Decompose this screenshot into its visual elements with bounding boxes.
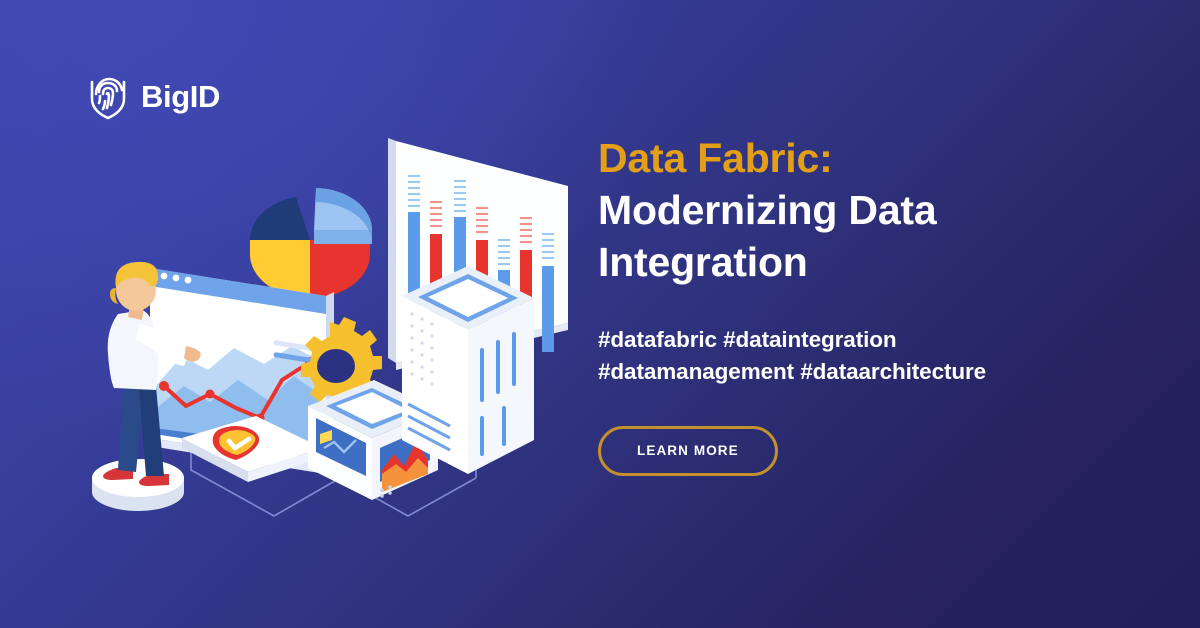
promo-banner: BigID — [0, 0, 1200, 628]
headline-accent: Data Fabric: — [598, 135, 833, 181]
brand-logo[interactable]: BigID — [88, 72, 220, 120]
hashtag-list: #datafabric #dataintegration #datamanage… — [598, 288, 1138, 388]
pie-chart-3d — [250, 188, 372, 302]
learn-more-button[interactable]: LEARN MORE — [598, 426, 778, 476]
copy-block: Data Fabric: Modernizing Data Integratio… — [598, 132, 1138, 476]
hashtag-line-two: #datamanagement #dataarchitecture — [598, 359, 986, 384]
headline-line-two: Modernizing Data — [598, 187, 936, 233]
hashtag-line-one: #datafabric #dataintegration — [598, 327, 897, 352]
server-tower — [402, 266, 534, 474]
headline-line-three: Integration — [598, 239, 808, 285]
isometric-data-illustration — [78, 118, 588, 518]
brand-wordmark: BigID — [141, 81, 220, 112]
fingerprint-shield-icon — [88, 72, 132, 120]
page-title: Data Fabric: Modernizing Data Integratio… — [598, 132, 1138, 288]
